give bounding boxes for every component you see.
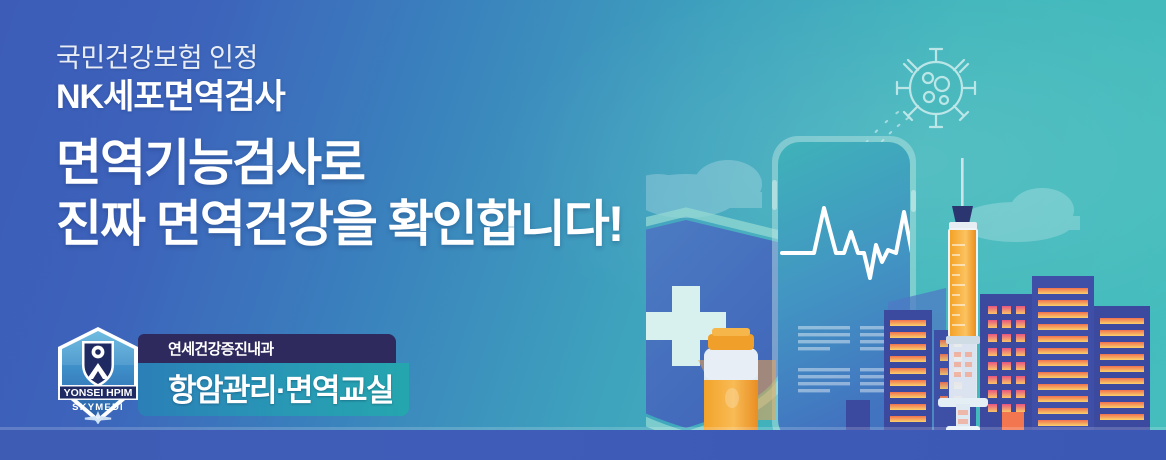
clinic-name: 연세건강증진내과 [138, 334, 396, 363]
banner-subtitle: NK세포면역검사 [56, 78, 736, 117]
banner-headline: 면역기능검사로 진짜 면역건강을 확인합니다! [56, 133, 736, 255]
shield-emblem-icon: YONSEI HPIM SKYMEDI [52, 325, 144, 425]
virus-icon [897, 49, 975, 127]
emblem-wordmark: YONSEI HPIM [64, 387, 133, 399]
promo-banner: 국민건강보험 인정 NK세포면역검사 면역기능검사로 진짜 면역건강을 확인합니… [0, 0, 1166, 460]
program-name: 항암관리·면역교실 [138, 363, 409, 416]
logo-text-block: 연세건강증진내과 항암관리·면역교실 [138, 334, 409, 416]
ground-strip [0, 430, 1166, 460]
logo-lockup[interactable]: YONSEI HPIM SKYMEDI 연세건강증진내과 항암관리·면역교실 [52, 325, 409, 425]
banner-eyebrow: 국민건강보험 인정 [56, 44, 736, 74]
banner-copy: 국민건강보험 인정 NK세포면역검사 면역기능검사로 진짜 면역건강을 확인합니… [56, 44, 736, 255]
